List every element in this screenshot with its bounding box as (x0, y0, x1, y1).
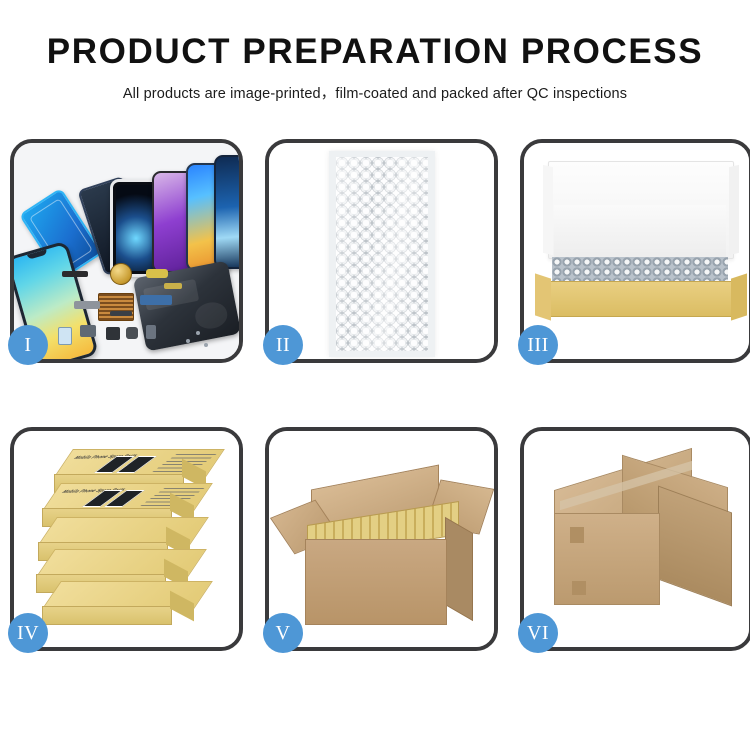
step-panel-3: III (520, 139, 750, 363)
part-gold-contact-icon (164, 283, 182, 289)
screw-icon (186, 339, 190, 343)
phone-notch-icon (27, 249, 48, 259)
part-button-icon (126, 327, 138, 339)
retail-box-icon (42, 581, 192, 627)
carton-tab-icon (572, 581, 586, 595)
step-image-1 (14, 143, 239, 359)
step-panel-2: II (265, 139, 498, 363)
part-sim-tray-icon (58, 327, 72, 345)
part-antenna-icon (110, 311, 132, 316)
step-image-6 (524, 431, 749, 647)
step-badge-4: IV (8, 613, 48, 653)
speaker-part-icon (110, 263, 132, 285)
part-camera-icon (106, 327, 120, 340)
page-subtitle: All products are image-printed，film-coat… (0, 82, 750, 103)
step-badge-1: I (8, 325, 48, 365)
step-badge-5: V (263, 613, 303, 653)
open-carton-icon (293, 477, 473, 627)
box-stack-icon: Mobile Phone Spare Parts Mobile Phone Sp… (28, 449, 228, 639)
steps-grid: I II III (10, 139, 740, 684)
bubble-texture-icon (336, 157, 428, 351)
step-badge-3: III (518, 325, 558, 365)
step-image-2 (269, 143, 494, 359)
carton-front-face (305, 539, 447, 625)
step-panel-4: Mobile Phone Spare Parts Mobile Phone Sp… (10, 427, 243, 651)
step-image-3 (524, 143, 749, 359)
carton-tab-icon (570, 527, 584, 543)
part-connector-icon (146, 269, 168, 278)
part-flex-cable-icon (140, 295, 172, 305)
part-strip-icon (62, 271, 88, 277)
step-panel-1: I (10, 139, 243, 363)
screw-icon (204, 343, 208, 347)
part-module-icon (80, 325, 96, 337)
page-title: PRODUCT PREPARATION PROCESS (0, 34, 750, 71)
kraft-box-base-icon (546, 281, 736, 317)
phone-wave-icon (214, 155, 239, 269)
step-panel-6: VI (520, 427, 750, 651)
step-badge-6: VI (518, 613, 558, 653)
bubble-wrap-bag-icon (329, 151, 435, 357)
box-front-face (42, 606, 172, 625)
screw-icon (196, 331, 200, 335)
step-image-4: Mobile Phone Spare Parts Mobile Phone Sp… (14, 431, 239, 647)
header: PRODUCT PREPARATION PROCESS All products… (0, 0, 750, 103)
chip-grid-icon (98, 293, 134, 321)
part-bracket-icon (74, 301, 100, 309)
foam-sheet-icon (554, 205, 726, 259)
product-preparation-infographic: PRODUCT PREPARATION PROCESS All products… (0, 0, 750, 750)
carton-side-face (445, 517, 473, 621)
step-badge-2: II (263, 325, 303, 365)
part-battery-icon (146, 325, 156, 339)
sealed-carton-icon (548, 469, 734, 619)
step-panel-5: V (265, 427, 498, 651)
step-image-5 (269, 431, 494, 647)
